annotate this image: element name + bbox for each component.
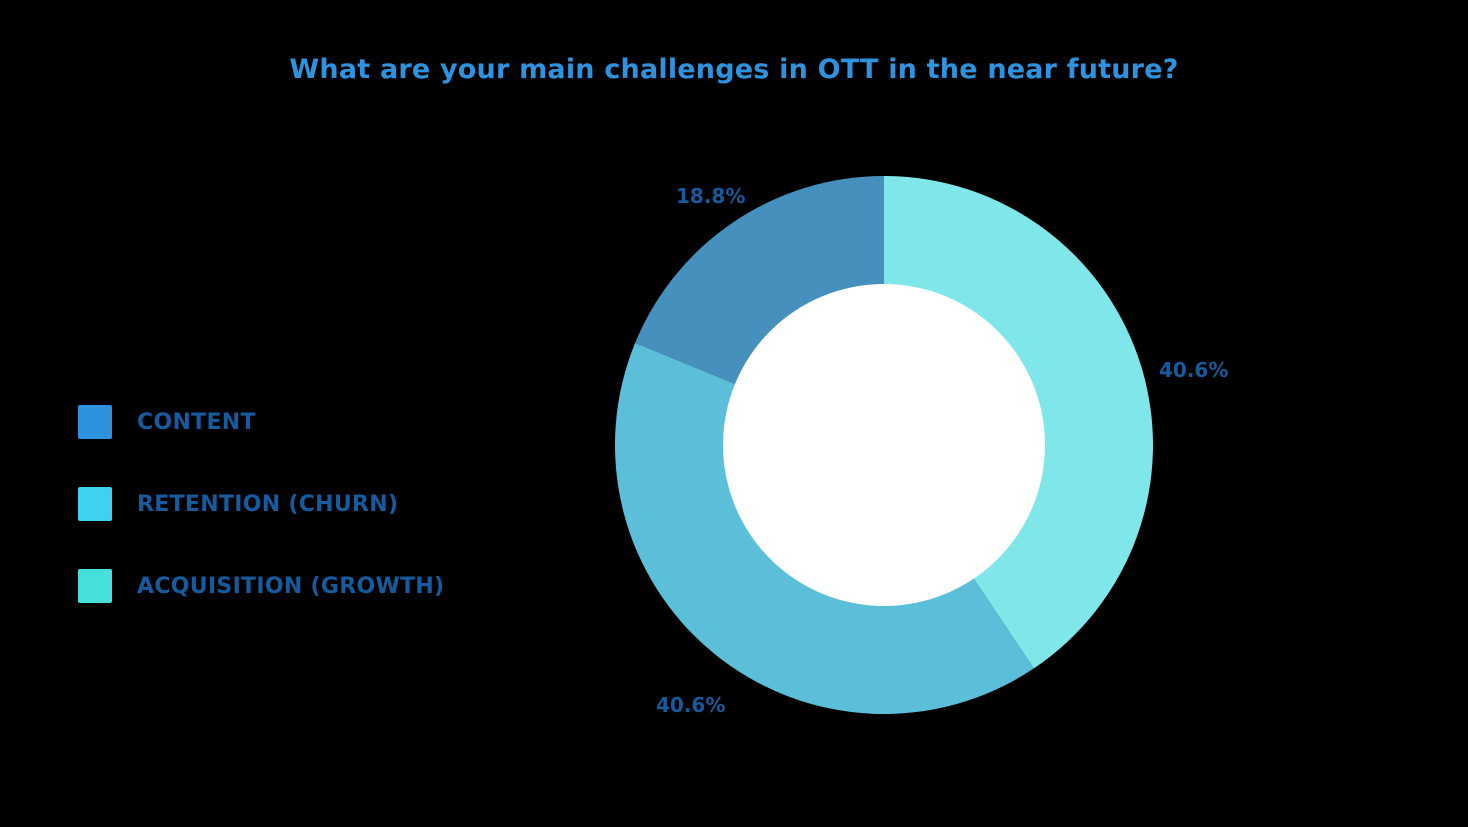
- chart-legend: CONTENT RETENTION (CHURN) ACQUISITION (G…: [78, 404, 548, 604]
- data-label-retention: 40.6%: [656, 693, 725, 717]
- data-label-content: 18.8%: [676, 184, 745, 208]
- legend-swatch-content-icon: [78, 405, 112, 439]
- donut-plot-area: [615, 176, 1153, 714]
- legend-label-acquisition: ACQUISITION (GROWTH): [137, 574, 444, 599]
- legend-item-acquisition[interactable]: ACQUISITION (GROWTH): [78, 568, 548, 604]
- data-label-acquisition: 40.6%: [1159, 358, 1228, 382]
- donut-svg: [615, 176, 1153, 714]
- legend-item-retention[interactable]: RETENTION (CHURN): [78, 486, 548, 522]
- chart-title: What are your main challenges in OTT in …: [0, 54, 1468, 85]
- legend-swatch-acquisition-icon: [78, 569, 112, 603]
- donut-chart-figure: What are your main challenges in OTT in …: [0, 0, 1468, 827]
- legend-label-content: CONTENT: [137, 410, 256, 435]
- legend-swatch-retention-icon: [78, 487, 112, 521]
- legend-label-retention: RETENTION (CHURN): [137, 492, 398, 517]
- donut-hole: [723, 284, 1045, 606]
- legend-item-content[interactable]: CONTENT: [78, 404, 548, 440]
